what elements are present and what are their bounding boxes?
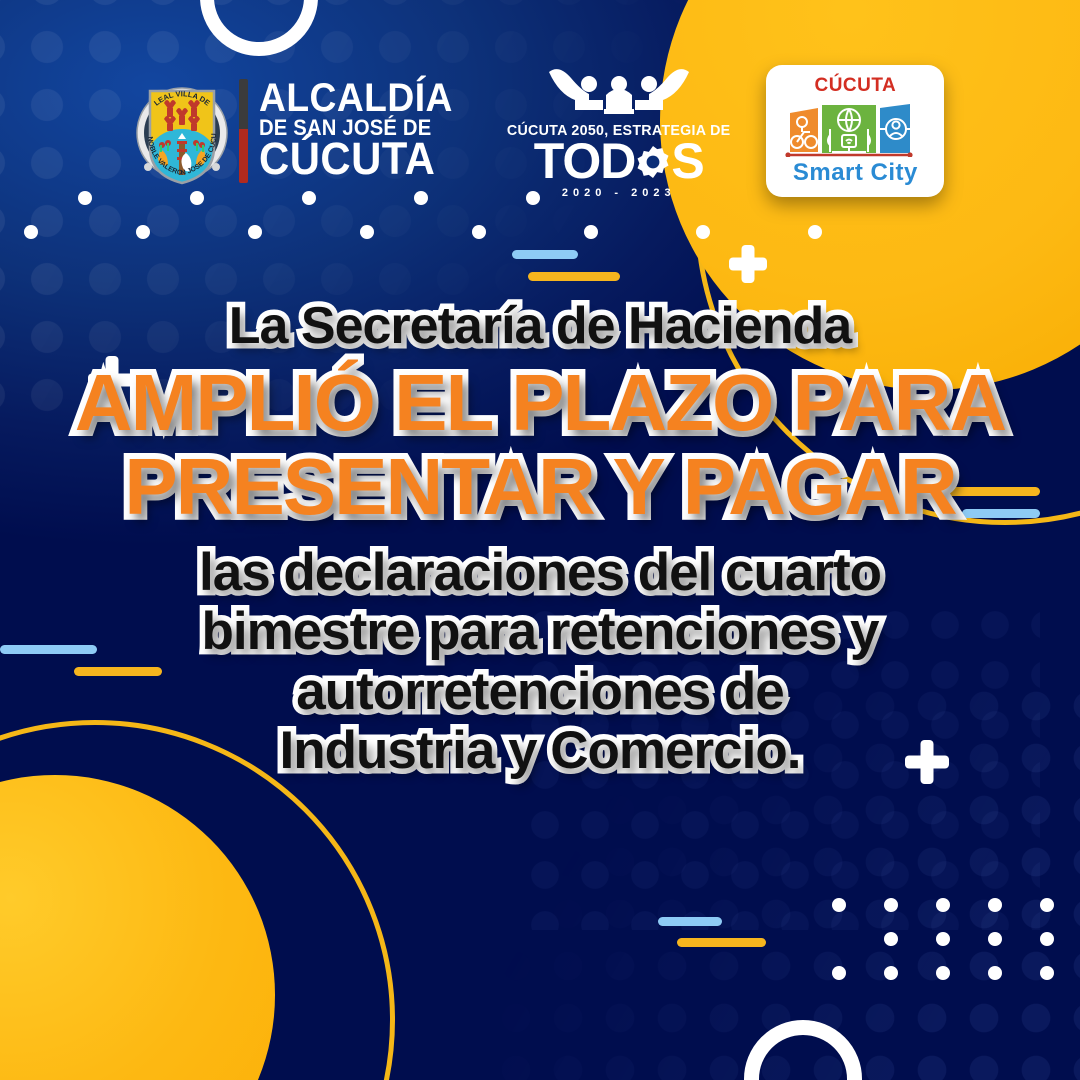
white-ring-bottom-icon — [744, 1020, 862, 1080]
accent-bar-yellow-1 — [528, 272, 620, 281]
alcaldia-line-1: ALCALDÍA — [259, 80, 453, 118]
smart-city-subtitle: Smart City — [793, 159, 918, 187]
dot-row-lower-2 — [884, 932, 1080, 946]
alcaldia-line-3: CÚCUTA — [259, 138, 453, 180]
headline-body-line-2: bimestre para retenciones y — [0, 602, 1080, 661]
poster-canvas: LEAL VILLA DE MUY NOBLE VALEROSA Y SAN J… — [0, 0, 1080, 1080]
logo-divider-rule — [239, 79, 248, 183]
headline-block: La Secretaría de Hacienda AMPLIÓ EL PLAZ… — [0, 300, 1080, 780]
accent-bar-yellow-4 — [677, 938, 766, 947]
dot-row-lower-3 — [832, 966, 1080, 980]
headline-body-line-4: Industria y Comercio. — [0, 721, 1080, 780]
smart-city-title: CÚCUTA — [814, 76, 896, 95]
todos-word-part-2: S — [671, 139, 703, 184]
three-figures-icon — [544, 62, 694, 120]
logo-bar: LEAL VILLA DE MUY NOBLE VALEROSA Y SAN J… — [0, 62, 1080, 199]
alcaldia-wordmark: ALCALDÍA DE SAN JOSÉ DE CÚCUTA — [259, 80, 467, 181]
accent-bar-blue-1 — [512, 250, 578, 259]
gear-star-icon — [636, 145, 670, 179]
alcaldia-logo: LEAL VILLA DE MUY NOBLE VALEROSA Y SAN J… — [136, 75, 467, 187]
todos-wordmark: TOD S — [534, 139, 704, 184]
white-ring-top-icon — [200, 0, 318, 56]
headline-body-line-1: las declaraciones del cuarto — [0, 543, 1080, 602]
smart-city-logo: CÚCUTA — [766, 65, 944, 197]
todos-years: 2020 - 2023 — [562, 187, 676, 199]
headline-emphasis-line-2: PRESENTAR Y PAGAR — [0, 445, 1080, 529]
dot-row-upper-2 — [24, 225, 822, 239]
todos-tagline: CÚCUTA 2050, ESTRATEGIA DE — [507, 122, 731, 139]
headline-body-line-3: autorretenciones de — [0, 662, 1080, 721]
dot-row-lower-1 — [832, 898, 1080, 912]
accent-bar-blue-4 — [658, 917, 722, 926]
smart-city-pictogram-icon — [780, 95, 930, 157]
headline-emphasis-line-1: AMPLIÓ EL PLAZO PARA — [0, 361, 1080, 445]
headline-eyebrow: La Secretaría de Hacienda — [0, 300, 1080, 353]
todos-logo: CÚCUTA 2050, ESTRATEGIA DE TOD S 2020 - … — [501, 62, 736, 199]
plus-icon-top — [729, 245, 767, 283]
cucuta-coat-of-arms-icon: LEAL VILLA DE MUY NOBLE VALEROSA Y SAN J… — [136, 75, 228, 187]
todos-word-part: TOD — [534, 139, 636, 184]
